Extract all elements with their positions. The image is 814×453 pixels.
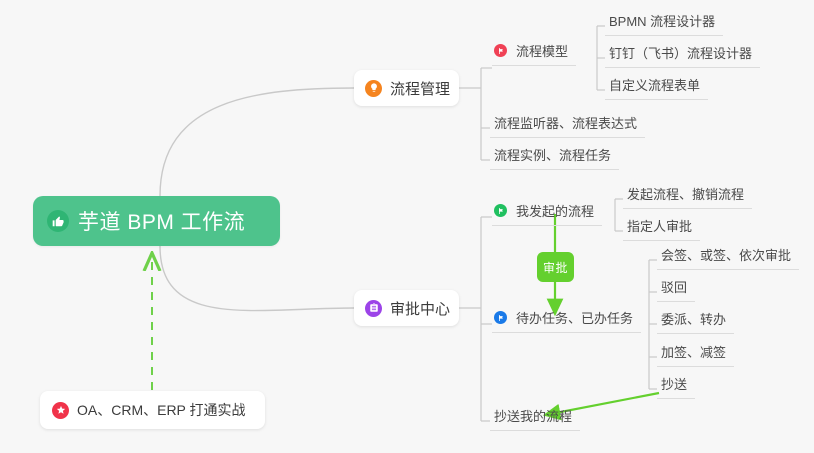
node-process-model[interactable]: 流程模型 bbox=[492, 40, 576, 66]
node-label-process-listener: 流程监听器、流程表达式 bbox=[494, 116, 637, 131]
node-label-cc: 抄送 bbox=[661, 377, 687, 392]
node-label-start-cancel-process: 发起流程、撤销流程 bbox=[627, 187, 744, 202]
node-delegate-transfer[interactable]: 委派、转办 bbox=[657, 308, 734, 334]
note-card-label: OA、CRM、ERP 打通实战 bbox=[77, 400, 246, 420]
note-card-integration[interactable]: OA、CRM、ERP 打通实战 bbox=[40, 391, 265, 429]
lightbulb-icon bbox=[365, 80, 382, 97]
node-add-remove-sign[interactable]: 加签、减签 bbox=[657, 341, 734, 367]
link-root-to-process-management bbox=[160, 88, 354, 196]
clipboard-icon bbox=[365, 300, 382, 317]
link-root-to-approval-center bbox=[160, 246, 354, 311]
node-label-process-instance: 流程实例、流程任务 bbox=[494, 148, 611, 163]
highlight-chip-label: 审批 bbox=[543, 259, 568, 276]
branch-node-process-management[interactable]: 流程管理 bbox=[354, 70, 459, 106]
node-process-instance[interactable]: 流程实例、流程任务 bbox=[490, 144, 619, 170]
flag-icon bbox=[494, 44, 507, 57]
node-label-reject: 驳回 bbox=[661, 280, 687, 295]
node-my-started-process[interactable]: 我发起的流程 bbox=[492, 200, 602, 226]
node-reject[interactable]: 驳回 bbox=[657, 276, 695, 302]
mindmap-canvas: 芋道 BPM 工作流 流程管理 流程模型 BPMN 流程设计器 钉钉（飞书）流程… bbox=[0, 0, 814, 453]
node-dingtalk-designer[interactable]: 钉钉（飞书）流程设计器 bbox=[605, 42, 760, 68]
node-custom-form[interactable]: 自定义流程表单 bbox=[605, 74, 708, 100]
node-label-custom-form: 自定义流程表单 bbox=[609, 78, 700, 93]
branch-label-approval-center: 审批中心 bbox=[390, 298, 450, 319]
node-process-listener[interactable]: 流程监听器、流程表达式 bbox=[490, 112, 645, 138]
root-label: 芋道 BPM 工作流 bbox=[78, 206, 245, 236]
root-node[interactable]: 芋道 BPM 工作流 bbox=[33, 196, 280, 246]
branch-node-approval-center[interactable]: 审批中心 bbox=[354, 290, 459, 326]
node-label-todo-done-tasks: 待办任务、已办任务 bbox=[516, 311, 633, 326]
node-todo-done-tasks[interactable]: 待办任务、已办任务 bbox=[492, 307, 641, 333]
node-multi-approve[interactable]: 会签、或签、依次审批 bbox=[657, 244, 799, 270]
node-label-assignee-approve: 指定人审批 bbox=[627, 219, 692, 234]
branch-label-process-management: 流程管理 bbox=[390, 78, 450, 99]
highlight-chip-approval[interactable]: 审批 bbox=[537, 252, 574, 282]
node-cc-my-process[interactable]: 抄送我的流程 bbox=[490, 405, 580, 431]
node-label-process-model: 流程模型 bbox=[516, 44, 568, 59]
thumbs-up-icon bbox=[47, 210, 69, 232]
flag-icon bbox=[494, 204, 507, 217]
node-label-cc-my-process: 抄送我的流程 bbox=[494, 409, 572, 424]
flag-icon bbox=[494, 311, 507, 324]
node-cc[interactable]: 抄送 bbox=[657, 373, 695, 399]
node-label-dingtalk-designer: 钉钉（飞书）流程设计器 bbox=[609, 46, 752, 61]
node-label-delegate-transfer: 委派、转办 bbox=[661, 312, 726, 327]
node-assignee-approve[interactable]: 指定人审批 bbox=[623, 215, 700, 241]
node-bpmn-designer[interactable]: BPMN 流程设计器 bbox=[605, 10, 723, 36]
node-label-my-started-process: 我发起的流程 bbox=[516, 204, 594, 219]
node-label-multi-approve: 会签、或签、依次审批 bbox=[661, 248, 791, 263]
star-icon bbox=[52, 402, 69, 419]
node-label-bpmn-designer: BPMN 流程设计器 bbox=[609, 14, 715, 29]
node-label-add-remove-sign: 加签、减签 bbox=[661, 345, 726, 360]
node-start-cancel-process[interactable]: 发起流程、撤销流程 bbox=[623, 183, 752, 209]
